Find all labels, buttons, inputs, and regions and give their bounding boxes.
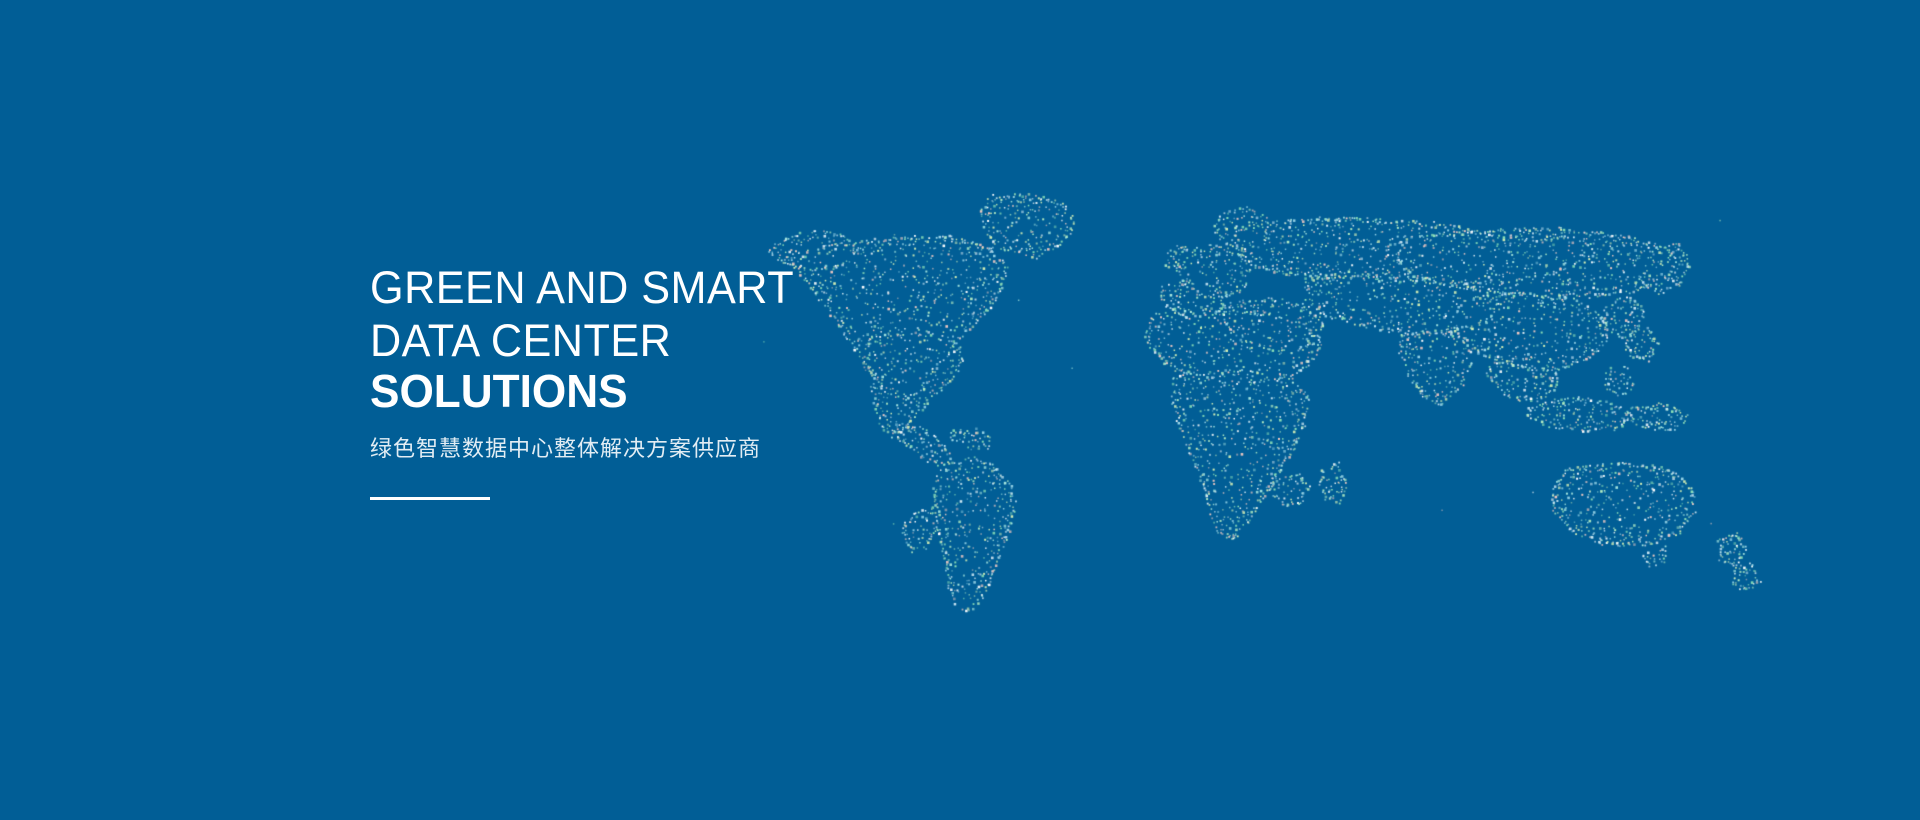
headline-block: GREEN AND SMART DATA CENTER SOLUTIONS 绿色… — [370, 265, 930, 500]
headline-line-2: DATA CENTER — [370, 318, 908, 369]
subtitle-chinese: 绿色智慧数据中心整体解决方案供应商 — [370, 434, 930, 464]
headline-line-3: SOLUTIONS — [370, 369, 908, 414]
hero-banner: GREEN AND SMART DATA CENTER SOLUTIONS 绿色… — [0, 0, 1920, 820]
dotted-world-map — [0, 0, 1920, 820]
title-divider — [370, 497, 490, 500]
headline-line-1: GREEN AND SMART — [370, 265, 908, 318]
